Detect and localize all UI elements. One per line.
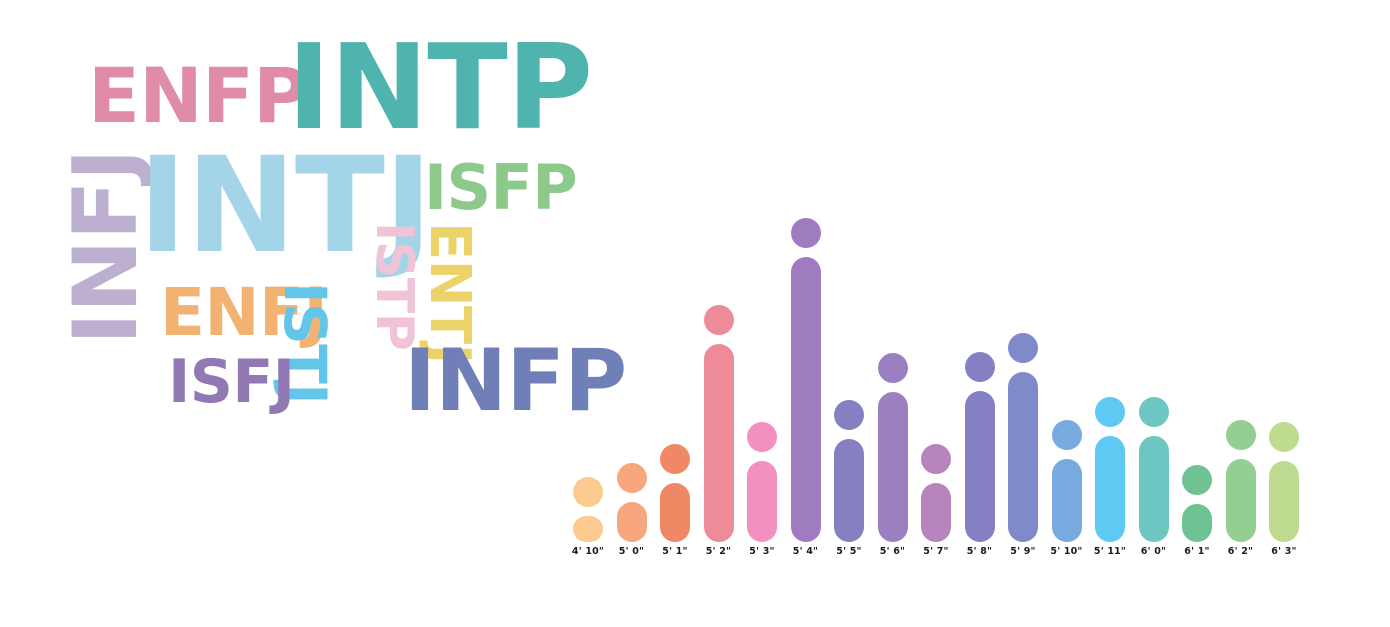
- person-body: [617, 502, 647, 542]
- x-tick-label-16: 6' 2": [1219, 546, 1263, 557]
- person-head-icon: [791, 218, 821, 248]
- person-head-icon: [1008, 333, 1038, 363]
- x-tick-label-4: 5' 2": [697, 546, 741, 557]
- bar-6[interactable]: [784, 190, 828, 542]
- bar-17[interactable]: [1262, 190, 1306, 542]
- x-tick-label-8: 5' 6": [871, 546, 915, 557]
- x-tick-label-17: 6' 3": [1262, 546, 1306, 557]
- person-body: [1182, 504, 1212, 542]
- person-glyph: [914, 444, 958, 542]
- x-tick-label-6: 5' 4": [784, 546, 828, 557]
- person-body: [1269, 461, 1299, 542]
- word-isfp: ISFP: [424, 157, 577, 219]
- word-isfj: ISFJ: [168, 352, 294, 412]
- bar-5[interactable]: [740, 190, 784, 542]
- person-body: [791, 257, 821, 542]
- person-body: [660, 483, 690, 542]
- x-tick-label-11: 5' 9": [1001, 546, 1045, 557]
- person-head-icon: [878, 353, 908, 383]
- bar-11[interactable]: [1001, 190, 1045, 542]
- bar-14[interactable]: [1132, 190, 1176, 542]
- x-tick-label-1: 4' 10": [566, 546, 610, 557]
- person-body: [878, 392, 908, 542]
- bar-16[interactable]: [1219, 190, 1263, 542]
- bar-7[interactable]: [827, 190, 871, 542]
- bar-12[interactable]: [1045, 190, 1089, 542]
- person-body: [1095, 436, 1125, 542]
- person-body: [1008, 372, 1038, 542]
- infographic-canvas: ENFPINTPINFJINTJISFPISTPENTJENFJISTJISFJ…: [0, 0, 1390, 627]
- person-glyph: [784, 218, 828, 542]
- x-tick-label-2: 5' 0": [610, 546, 654, 557]
- x-tick-label-9: 5' 7": [914, 546, 958, 557]
- person-head-icon: [1139, 397, 1169, 427]
- person-glyph: [958, 352, 1002, 542]
- bar-1[interactable]: [566, 190, 610, 542]
- person-glyph: [740, 422, 784, 542]
- person-body: [834, 439, 864, 542]
- person-glyph: [827, 400, 871, 542]
- person-head-icon: [747, 422, 777, 452]
- person-head-icon: [573, 477, 603, 507]
- person-head-icon: [834, 400, 864, 430]
- person-head-icon: [1095, 397, 1125, 427]
- person-glyph: [1088, 397, 1132, 542]
- bar-10[interactable]: [958, 190, 1002, 542]
- bar-15[interactable]: [1175, 190, 1219, 542]
- x-tick-label-5: 5' 3": [740, 546, 784, 557]
- bar-2[interactable]: [610, 190, 654, 542]
- person-head-icon: [617, 463, 647, 493]
- person-body: [1052, 459, 1082, 542]
- person-head-icon: [704, 305, 734, 335]
- person-head-icon: [660, 444, 690, 474]
- person-body: [1226, 459, 1256, 542]
- person-glyph: [697, 305, 741, 542]
- bar-4[interactable]: [697, 190, 741, 542]
- person-glyph: [1262, 422, 1306, 542]
- x-tick-label-12: 5' 10": [1045, 546, 1089, 557]
- height-distribution-chart: 4' 10"5' 0"5' 1"5' 2"5' 3"5' 4"5' 5"5' 6…: [566, 190, 1326, 585]
- person-head-icon: [1269, 422, 1299, 452]
- bar-8[interactable]: [871, 190, 915, 542]
- x-tick-label-13: 5' 11": [1088, 546, 1132, 557]
- x-tick-label-14: 6' 0": [1132, 546, 1176, 557]
- person-body: [747, 461, 777, 542]
- person-head-icon: [1052, 420, 1082, 450]
- chart-bars: [566, 190, 1326, 542]
- person-head-icon: [965, 352, 995, 382]
- word-infj: INFJ: [62, 149, 150, 345]
- x-tick-label-7: 5' 5": [827, 546, 871, 557]
- x-tick-label-3: 5' 1": [653, 546, 697, 557]
- person-glyph: [1001, 333, 1045, 542]
- person-body: [965, 391, 995, 542]
- person-glyph: [566, 485, 610, 542]
- bar-3[interactable]: [653, 190, 697, 542]
- person-body: [704, 344, 734, 542]
- x-tick-label-10: 5' 8": [958, 546, 1002, 557]
- person-body: [1139, 436, 1169, 542]
- person-glyph: [871, 353, 915, 542]
- x-tick-label-15: 6' 1": [1175, 546, 1219, 557]
- person-body: [573, 516, 603, 542]
- person-head-icon: [921, 444, 951, 474]
- bar-13[interactable]: [1088, 190, 1132, 542]
- person-glyph: [1219, 420, 1263, 542]
- person-glyph: [1132, 397, 1176, 542]
- person-head-icon: [1182, 465, 1212, 495]
- person-glyph: [1045, 420, 1089, 542]
- person-glyph: [653, 444, 697, 542]
- person-glyph: [610, 463, 654, 542]
- person-glyph: [1175, 465, 1219, 542]
- mbti-word-cloud: ENFPINTPINFJINTJISFPISTPENTJENFJISTJISFJ…: [0, 0, 640, 440]
- person-body: [921, 483, 951, 542]
- bar-9[interactable]: [914, 190, 958, 542]
- chart-x-axis: 4' 10"5' 0"5' 1"5' 2"5' 3"5' 4"5' 5"5' 6…: [566, 546, 1326, 570]
- person-head-icon: [1226, 420, 1256, 450]
- word-enfp: ENFP: [88, 58, 308, 134]
